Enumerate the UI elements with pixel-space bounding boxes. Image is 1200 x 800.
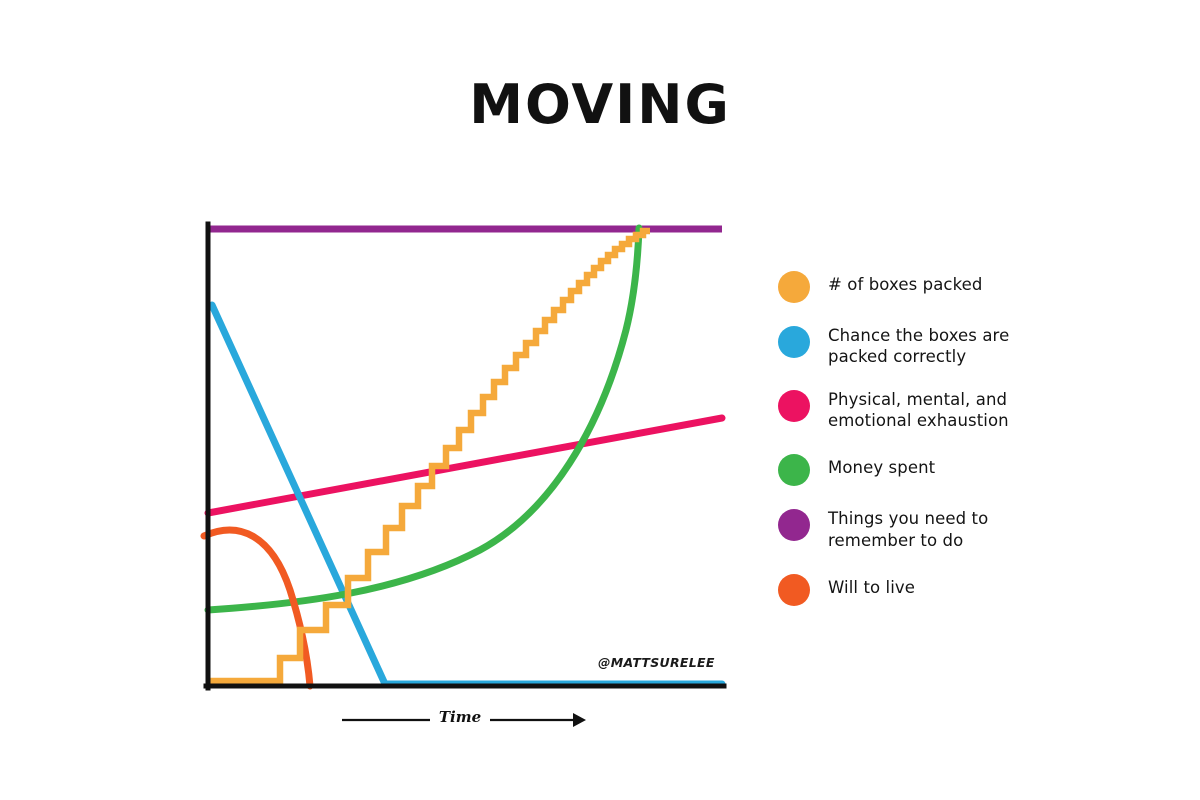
watermark: @MATTSURELEE: [598, 655, 715, 670]
legend-label-boxes-packed: # of boxes packed: [828, 270, 982, 295]
legend-label-will-to-live: Will to live: [828, 573, 915, 598]
legend-label-packed-correctly: Chance the boxes are packed correctly: [828, 325, 1043, 367]
x-axis-label: Time: [330, 708, 590, 726]
chart-svg: [180, 200, 740, 700]
chart-page: MOVING @MATTSURELEE Time: [0, 0, 1200, 800]
legend-swatch-packed-correctly: [778, 326, 810, 358]
legend-label-remember-to-do: Things you need to remember to do: [828, 508, 1043, 550]
legend-label-exhaustion: Physical, mental, and emotional exhausti…: [828, 389, 1043, 431]
legend-swatch-boxes-packed: [778, 271, 810, 303]
page-title: MOVING: [0, 78, 1200, 132]
legend-item-remember-to-do[interactable]: Things you need to remember to do: [778, 508, 1078, 550]
plot-area: [180, 200, 740, 700]
series-packed-correctly: [212, 305, 722, 684]
legend-item-will-to-live[interactable]: Will to live: [778, 573, 1078, 606]
legend-label-money-spent: Money spent: [828, 453, 935, 478]
legend-swatch-remember-to-do: [778, 509, 810, 541]
legend-item-boxes-packed[interactable]: # of boxes packed: [778, 270, 1078, 303]
legend-item-packed-correctly[interactable]: Chance the boxes are packed correctly: [778, 325, 1078, 367]
legend-swatch-will-to-live: [778, 574, 810, 606]
legend-swatch-money-spent: [778, 454, 810, 486]
legend-item-exhaustion[interactable]: Physical, mental, and emotional exhausti…: [778, 389, 1078, 431]
legend: # of boxes packed Chance the boxes are p…: [778, 270, 1078, 628]
legend-item-money-spent[interactable]: Money spent: [778, 453, 1078, 486]
series-boxes-packed: [206, 231, 650, 681]
legend-swatch-exhaustion: [778, 390, 810, 422]
